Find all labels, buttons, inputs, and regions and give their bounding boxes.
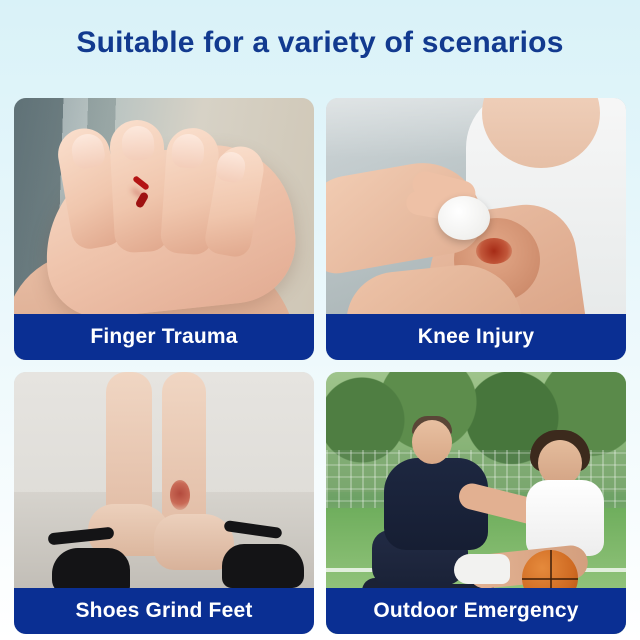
- knee-graze: [476, 238, 512, 264]
- card-caption: Outdoor Emergency: [326, 588, 626, 634]
- card-caption: Knee Injury: [326, 314, 626, 360]
- cotton-ball: [438, 196, 490, 240]
- scenario-card-outdoor-emergency[interactable]: Outdoor Emergency: [326, 372, 626, 634]
- shoe-right-body: [222, 544, 304, 588]
- fingernail-2: [121, 125, 155, 161]
- page-title: Suitable for a variety of scenarios: [0, 26, 640, 60]
- promo-page: Suitable for a variety of scenarios Fin: [0, 0, 640, 640]
- boy-shoe: [454, 554, 510, 584]
- boy-torso: [526, 480, 604, 556]
- fingernail-3: [171, 133, 205, 169]
- heel-blister: [170, 480, 190, 510]
- scenario-card-finger-trauma[interactable]: Finger Trauma: [14, 98, 314, 360]
- scenario-card-knee-injury[interactable]: Knee Injury: [326, 98, 626, 360]
- man-head: [412, 420, 452, 464]
- scenario-grid: Finger Trauma Knee Injury: [14, 98, 626, 634]
- leg-left: [106, 372, 152, 522]
- card-caption: Finger Trauma: [14, 314, 314, 360]
- card-caption: Shoes Grind Feet: [14, 588, 314, 634]
- scenario-card-shoes-grind-feet[interactable]: Shoes Grind Feet: [14, 372, 314, 634]
